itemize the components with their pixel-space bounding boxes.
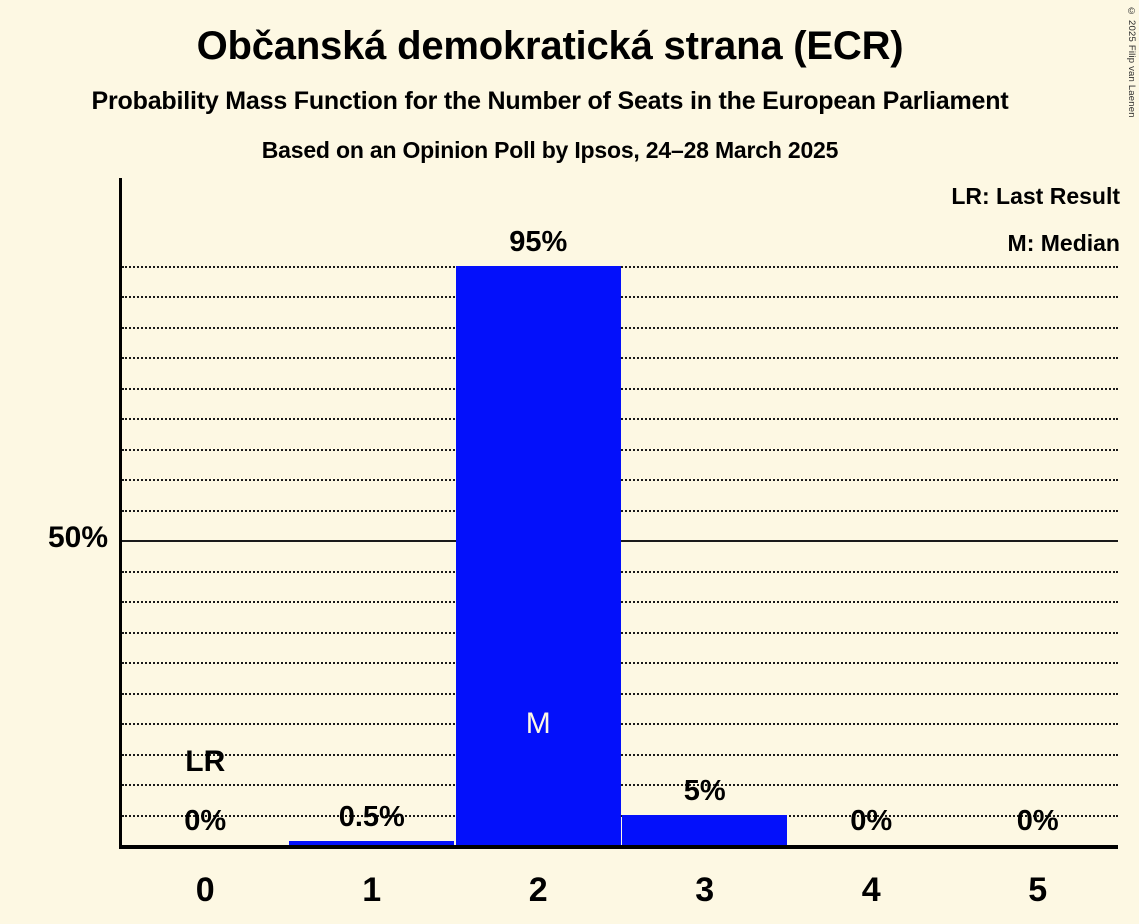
x-tick-label-4: 4 <box>788 871 955 909</box>
y-tick-label-50: 50% <box>0 521 108 555</box>
x-tick-label-1: 1 <box>289 871 456 909</box>
page-title: Občanská demokratická strana (ECR) <box>0 22 1100 70</box>
chart-source-note: Based on an Opinion Poll by Ipsos, 24–28… <box>0 136 1100 164</box>
x-axis-line <box>119 845 1118 849</box>
copyright-notice: © 2025 Filip van Laenen <box>1126 6 1136 118</box>
bar-seat-3[interactable] <box>622 815 787 846</box>
bar-value-label-3: 5% <box>602 774 807 808</box>
chart-figure: Občanská demokratická strana (ECR) Proba… <box>0 0 1139 924</box>
bar-marker-median: M <box>436 707 641 741</box>
bar-seat-2[interactable] <box>456 266 621 846</box>
bar-value-label-1: 0.5% <box>269 800 474 834</box>
x-tick-label-0: 0 <box>122 871 289 909</box>
chart-subtitle: Probability Mass Function for the Number… <box>0 86 1100 116</box>
bar-value-label-5: 0% <box>935 804 1139 838</box>
bar-marker-last-result: LR <box>103 745 308 779</box>
x-tick-label-3: 3 <box>622 871 789 909</box>
bar-seat-1[interactable] <box>289 841 454 845</box>
bar-value-label-2: 95% <box>436 225 641 259</box>
x-tick-label-5: 5 <box>955 871 1122 909</box>
x-tick-label-2: 2 <box>455 871 622 909</box>
